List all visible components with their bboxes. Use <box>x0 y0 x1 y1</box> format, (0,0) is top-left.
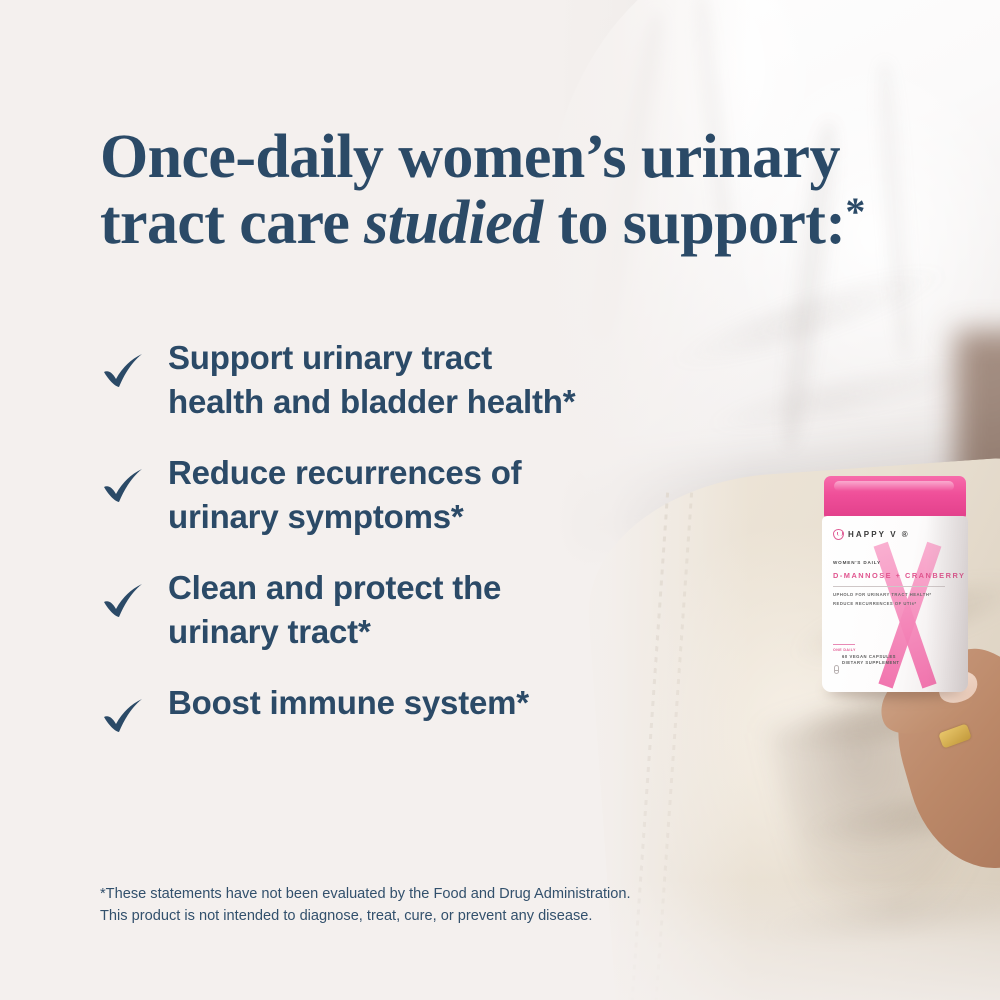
product-bottle[interactable]: HAPPY V ® WOMEN'S DAILY D-MANNOSE + CRAN… <box>822 476 968 692</box>
product-claim-2: REDUCE RECURRENCES OF UTIs* <box>833 601 917 606</box>
headline-line-1: Once-daily women’s urinary <box>100 123 840 191</box>
disclaimer-line-2: This product is not intended to diagnose… <box>100 908 592 924</box>
benefit-text: Support urinary tract health and bladder… <box>168 336 575 423</box>
bottle-cap <box>824 476 966 518</box>
marketing-image: HAPPY V ® WOMEN'S DAILY D-MANNOSE + CRAN… <box>0 0 1000 1000</box>
benefit-line-1: Reduce recurrences of <box>168 454 521 491</box>
benefits-list: Support urinary tract health and bladder… <box>100 336 700 739</box>
happy-v-mark-icon <box>833 529 844 540</box>
cap-highlight <box>834 481 954 491</box>
headline-line-2-after: to support: <box>543 189 846 257</box>
headline-line-2-before: tract care <box>100 189 364 257</box>
benefit-item: Reduce recurrences of urinary symptoms* <box>100 451 700 538</box>
checkmark-icon <box>100 693 146 739</box>
benefit-line-1: Clean and protect the <box>168 569 501 606</box>
brand-logo: HAPPY V ® <box>833 529 910 540</box>
headline-asterisk: * <box>845 189 865 234</box>
headline-emphasis: studied <box>364 189 542 257</box>
product-type: DIETARY SUPPLEMENT <box>833 660 900 666</box>
benefit-line-1: Support urinary tract <box>168 339 492 376</box>
benefit-item: Support urinary tract health and bladder… <box>100 336 700 423</box>
product-claim-1: UPHOLD FOR URINARY TRACT HEALTH* <box>833 592 932 597</box>
checkmark-icon <box>100 463 146 509</box>
registered-mark: ® <box>902 530 910 539</box>
page-title: Once-daily women’s urinary tract care st… <box>100 124 900 257</box>
benefit-line-2: urinary symptoms* <box>168 498 464 535</box>
benefit-line-2: urinary tract* <box>168 613 371 650</box>
benefit-line-1: Boost immune system* <box>168 684 529 721</box>
benefit-text: Clean and protect the urinary tract* <box>168 566 501 653</box>
product-eyebrow: WOMEN'S DAILY <box>833 560 881 565</box>
product-dose: ONE DAILY <box>833 648 900 652</box>
bottle-body: HAPPY V ® WOMEN'S DAILY D-MANNOSE + CRAN… <box>822 516 968 692</box>
benefit-line-2: health and bladder health* <box>168 383 575 420</box>
count-divider <box>833 644 855 645</box>
checkmark-icon <box>100 578 146 624</box>
bottle-shading <box>926 516 968 692</box>
disclaimer-line-1: *These statements have not been evaluate… <box>100 886 631 902</box>
checkmark-icon <box>100 348 146 394</box>
fda-disclaimer: *These statements have not been evaluate… <box>100 884 740 928</box>
benefit-item: Clean and protect the urinary tract* <box>100 566 700 653</box>
benefit-text: Boost immune system* <box>168 681 529 725</box>
benefit-text: Reduce recurrences of urinary symptoms* <box>168 451 521 538</box>
product-count-block: ONE DAILY 60 VEGAN CAPSULES DIETARY SUPP… <box>833 644 900 666</box>
benefit-item: Boost immune system* <box>100 681 700 739</box>
capsule-icon <box>834 665 839 674</box>
brand-name: HAPPY V <box>848 530 898 539</box>
